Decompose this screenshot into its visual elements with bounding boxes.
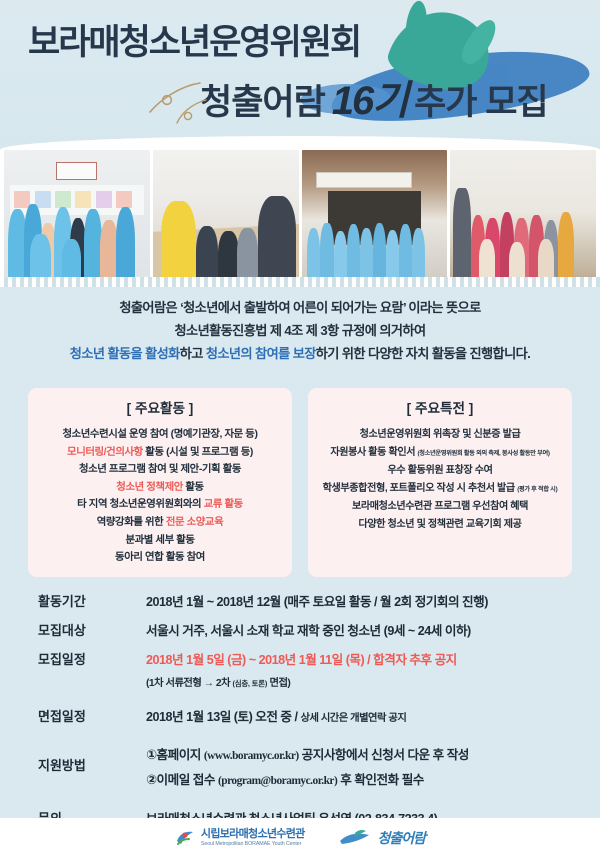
list-item: 분과별 세부 활동 bbox=[34, 532, 286, 550]
cohort-number: 16기 bbox=[332, 68, 407, 126]
homepage-url[interactable]: (www.boramyc.or.kr) bbox=[204, 750, 299, 762]
wave-hands-icon bbox=[339, 829, 373, 847]
intro-line-3: 청소년 활동을 활성화하고 청소년의 참여를 보장하기 위한 다양한 자치 활동… bbox=[0, 342, 600, 365]
intro-section: 청출어람은 ‘청소년에서 출발하여 어른이 되어가는 요람’ 이라는 뜻으로 청… bbox=[0, 296, 600, 365]
intro-text-b: 하고 bbox=[180, 346, 206, 361]
intro-highlight-c: 청소년의 참여를 보장 bbox=[206, 346, 316, 361]
list-item: 학생부종합전형, 포트폴리오 작성 시 추천서 발급 (평가 후 적합 시) bbox=[314, 480, 566, 499]
detail-row-target: 모집대상 서울시 거주, 서울시 소재 학교 재학 중인 청소년 (9세 ~ 2… bbox=[38, 619, 566, 643]
value-interview: 2018년 1월 13일 (토) 오전 중 / 상세 시간은 개별연락 공지 bbox=[146, 705, 566, 731]
details-section: 활동기간 2018년 1월 ~ 2018년 12월 (매주 토요일 활동 / 월… bbox=[0, 590, 600, 836]
boramae-youth-center-logo: 시립보라매청소년수련관 Seoul Metropolitan BORAMAE Y… bbox=[175, 828, 305, 848]
recruit-label: 추가 모집 bbox=[414, 74, 548, 125]
cheongchuleoram-logo: 청출어람 bbox=[339, 828, 426, 848]
fish-line-art-icon bbox=[146, 78, 224, 124]
poster-header: 보라매청소년운영위원회 청출어람 16기 추가 모집 bbox=[0, 0, 600, 150]
photo-group-blue-jackets bbox=[4, 150, 150, 285]
info-boxes: [ 주요활동 ] 청소년수련시설 운영 참여 (명예기관장, 자문 등) 모니터… bbox=[0, 388, 600, 577]
schedule-stages: (1차 서류전형 → 2차 (심층, 토론) 면접) bbox=[146, 672, 566, 696]
label-target: 모집대상 bbox=[38, 619, 146, 643]
subtitle-line: 청출어람 16기 추가 모집 bbox=[200, 68, 548, 126]
photo-large-group-banner bbox=[450, 150, 596, 285]
value-apply: ①홈페이지 (www.boramyc.or.kr) 공지사항에서 신청서 다운 … bbox=[146, 743, 566, 793]
label-schedule: 모집일정 bbox=[38, 648, 146, 672]
detail-row-period: 활동기간 2018년 1월 ~ 2018년 12월 (매주 토요일 활동 / 월… bbox=[38, 590, 566, 614]
activities-box-title: [ 주요활동 ] bbox=[34, 397, 286, 417]
page-title: 보라매청소년운영위원회 bbox=[28, 14, 360, 65]
apply-method-1: ①홈페이지 (www.boramyc.or.kr) 공지사항에서 신청서 다운 … bbox=[146, 743, 566, 768]
apply-method-2: ②이메일 접수 (program@boramyc.or.kr) 후 확인전화 필… bbox=[146, 768, 566, 793]
detail-row-schedule: 모집일정 2018년 1월 5일 (금) ~ 2018년 1월 11일 (목) … bbox=[38, 648, 566, 696]
list-item: 우수 활동위원 표창장 수여 bbox=[314, 462, 566, 480]
benefits-box-title: [ 주요특전 ] bbox=[314, 397, 566, 417]
intro-line-2: 청소년활동진흥법 제 4조 제 3항 규정에 의거하여 bbox=[0, 319, 600, 342]
list-item: 모니터링/건의사항 활동 (시설 및 프로그램 등) bbox=[34, 444, 286, 462]
detail-row-interview: 면접일정 2018년 1월 13일 (토) 오전 중 / 상세 시간은 개별연락… bbox=[38, 705, 566, 731]
intro-line-1: 청출어람은 ‘청소년에서 출발하여 어른이 되어가는 요람’ 이라는 뜻으로 bbox=[0, 296, 600, 319]
intro-text-d: 하기 위한 다양한 자치 활동을 진행합니다. bbox=[316, 346, 530, 361]
photo-strip bbox=[0, 150, 600, 285]
label-period: 활동기간 bbox=[38, 590, 146, 614]
list-item: 자원봉사 활동 확인서 (청소년운영위원회 활동 외의 축제, 봉사성 활동만 … bbox=[314, 444, 566, 463]
benefits-list: 청소년운영위원회 위촉장 및 신분증 발급 자원봉사 활동 확인서 (청소년운영… bbox=[314, 426, 566, 534]
photo-students-outside-building bbox=[302, 150, 448, 285]
value-target: 서울시 거주, 서울시 소재 학교 재학 중인 청소년 (9세 ~ 24세 이하… bbox=[146, 619, 566, 643]
value-schedule: 2018년 1월 5일 (금) ~ 2018년 1월 11일 (목) / 합격자… bbox=[146, 648, 566, 696]
list-item: 청소년 프로그램 참여 및 제안-기획 활동 bbox=[34, 461, 286, 479]
list-item: 청소년 정책제안 활동 bbox=[34, 479, 286, 497]
logo-korean-name: 시립보라매청소년수련관 bbox=[201, 828, 305, 840]
wave-divider bbox=[0, 136, 600, 150]
schedule-dates: 2018년 1월 5일 (금) ~ 2018년 1월 11일 (목) / 합격자… bbox=[146, 648, 566, 672]
logo-english-name: Seoul Metropolitan BORAMAE Youth Center bbox=[201, 840, 305, 848]
bird-logo-icon bbox=[175, 829, 195, 847]
poster-root: 보라매청소년운영위원회 청출어람 16기 추가 모집 bbox=[0, 0, 600, 858]
list-item: 청소년운영위원회 위촉장 및 신분증 발급 bbox=[314, 426, 566, 444]
intro-highlight-a: 청소년 활동을 활성화 bbox=[70, 346, 180, 361]
label-interview: 면접일정 bbox=[38, 705, 146, 729]
list-item: 보라매청소년수련관 프로그램 우선참여 혜택 bbox=[314, 498, 566, 516]
detail-row-apply: 지원방법 ①홈페이지 (www.boramyc.or.kr) 공지사항에서 신청… bbox=[38, 743, 566, 793]
activities-list: 청소년수련시설 운영 참여 (명예기관장, 자문 등) 모니터링/건의사항 활동… bbox=[34, 426, 286, 567]
value-period: 2018년 1월 ~ 2018년 12월 (매주 토요일 활동 / 월 2회 정… bbox=[146, 590, 566, 614]
list-item: 역량강화를 위한 전문 소양교육 bbox=[34, 514, 286, 532]
list-item: 타 지역 청소년운영위원회와의 교류 활동 bbox=[34, 496, 286, 514]
benefits-box: [ 주요특전 ] 청소년운영위원회 위촉장 및 신분증 발급 자원봉사 활동 확… bbox=[308, 388, 572, 577]
email-address[interactable]: (program@boramyc.or.kr) bbox=[218, 775, 337, 787]
label-apply: 지원방법 bbox=[38, 743, 146, 778]
poster-footer: 시립보라매청소년수련관 Seoul Metropolitan BORAMAE Y… bbox=[0, 818, 600, 858]
logo-script-text: 청출어람 bbox=[378, 828, 426, 848]
list-item: 청소년수련시설 운영 참여 (명예기관장, 자문 등) bbox=[34, 426, 286, 444]
photo-meeting-discussion bbox=[153, 150, 299, 285]
activities-box: [ 주요활동 ] 청소년수련시설 운영 참여 (명예기관장, 자문 등) 모니터… bbox=[28, 388, 292, 577]
scalloped-divider bbox=[0, 277, 600, 287]
list-item: 동아리 연합 활동 참여 bbox=[34, 549, 286, 567]
list-item: 다양한 청소년 및 정책관련 교육기회 제공 bbox=[314, 516, 566, 534]
